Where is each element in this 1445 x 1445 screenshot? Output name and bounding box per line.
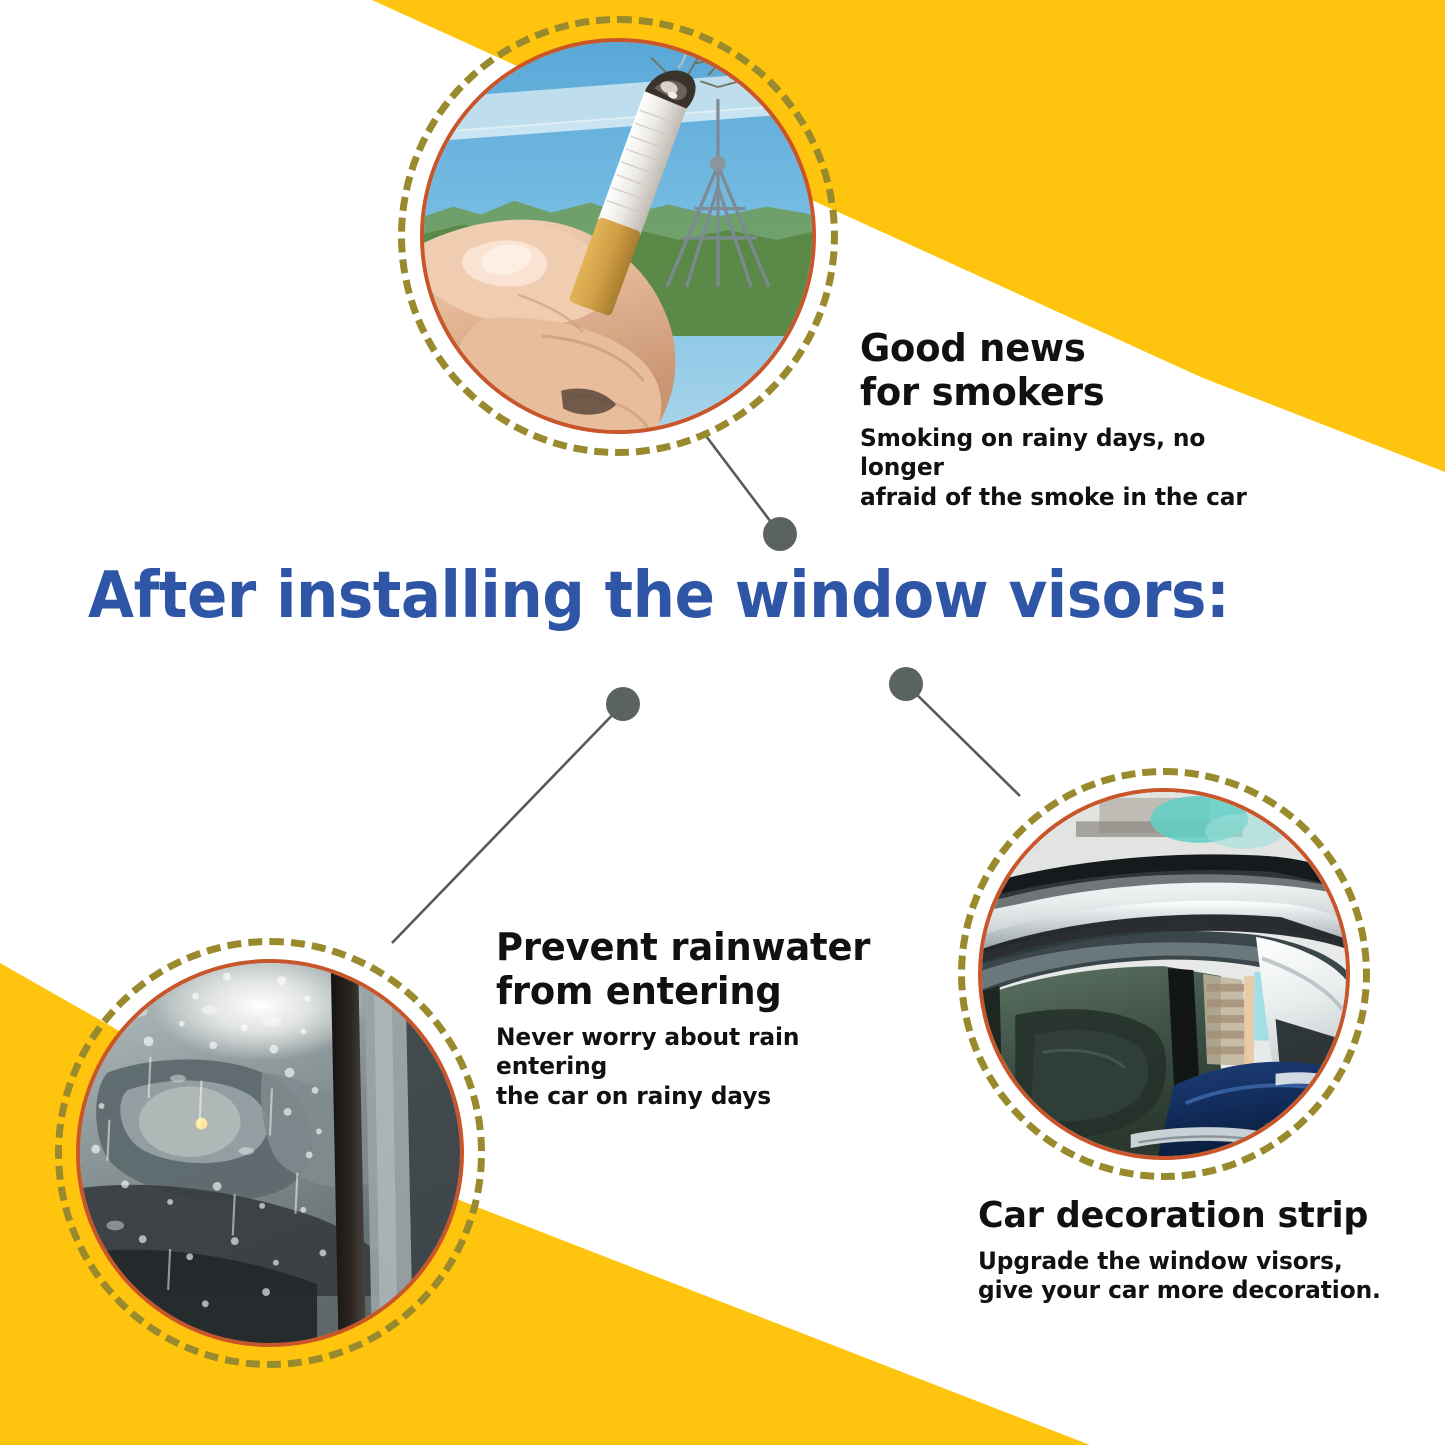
connector-dot-smokers <box>763 517 797 551</box>
feature-text-decoration: Car decoration strip Upgrade the window … <box>978 1195 1408 1305</box>
feature-title-smokers: Good news for smokers <box>860 326 1277 414</box>
feature-image-decoration <box>958 768 1370 1180</box>
connector-dot-decoration <box>889 667 923 701</box>
hand-holding-lit-cigarette-photo <box>420 38 816 434</box>
car-window-visor-installed-photo <box>978 788 1350 1160</box>
connector-dot-rainwater <box>606 687 640 721</box>
feature-text-smokers: Good news for smokers Smoking on rainy d… <box>860 326 1290 512</box>
feature-subtitle-rainwater: Never worry about rain entering the car … <box>496 1023 884 1111</box>
page-headline: After installing the window visors: <box>88 563 1288 630</box>
feature-image-smokers <box>398 16 838 456</box>
rainy-car-window-mirror-photo <box>76 959 464 1347</box>
infographic-canvas: After installing the window visors: Good… <box>0 0 1445 1445</box>
feature-subtitle-smokers: Smoking on rainy days, no longer afraid … <box>860 424 1277 512</box>
feature-text-rainwater: Prevent rainwater from entering Never wo… <box>496 925 896 1111</box>
feature-subtitle-decoration: Upgrade the window visors, give your car… <box>978 1247 1395 1306</box>
feature-title-rainwater: Prevent rainwater from entering <box>496 925 884 1013</box>
feature-image-rainwater <box>55 938 485 1368</box>
feature-title-decoration: Car decoration strip <box>978 1195 1395 1237</box>
